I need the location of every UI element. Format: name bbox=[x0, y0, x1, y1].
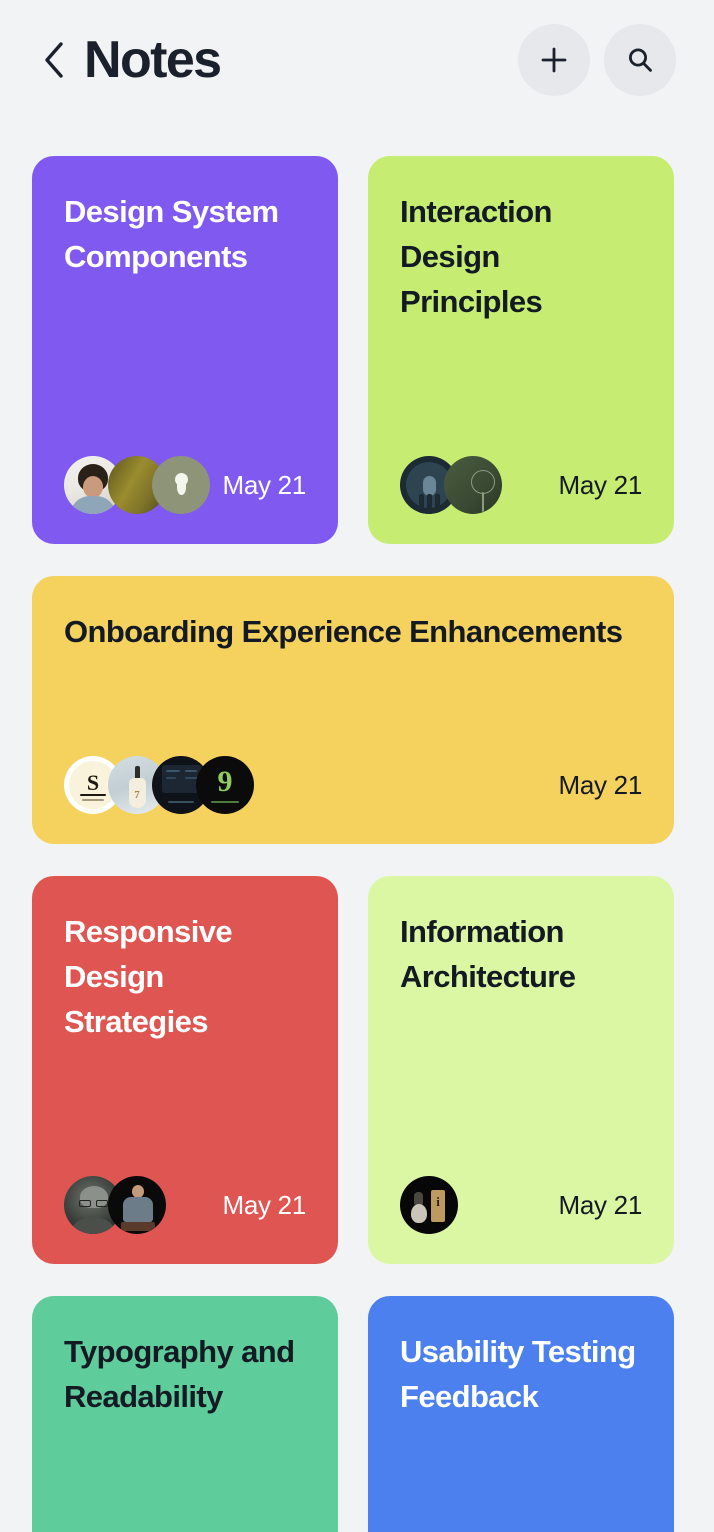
avatar-stack[interactable] bbox=[400, 456, 502, 514]
avatar[interactable] bbox=[108, 1176, 166, 1234]
app-header: Notes bbox=[0, 0, 714, 120]
note-title: Information Architecture bbox=[400, 910, 642, 1000]
page-title: Notes bbox=[84, 34, 518, 86]
note-date: May 21 bbox=[547, 770, 642, 801]
note-date: May 21 bbox=[211, 1190, 306, 1221]
note-card-usability-testing-feedback[interactable]: Usability Testing Feedback bbox=[368, 1296, 674, 1532]
chevron-left-icon bbox=[42, 41, 66, 79]
avatar[interactable] bbox=[152, 456, 210, 514]
note-card-design-system-components[interactable]: Design System Components May 21 bbox=[32, 156, 338, 544]
avatar-stack[interactable]: i bbox=[400, 1176, 458, 1234]
note-card-onboarding-experience-enhancements[interactable]: Onboarding Experience Enhancements S 7 bbox=[32, 576, 674, 844]
notes-grid: Design System Components May 21 bbox=[0, 120, 714, 1532]
note-title: Interaction Design Principles bbox=[400, 190, 642, 325]
avatar[interactable] bbox=[444, 456, 502, 514]
note-title: Typography and Readability bbox=[64, 1330, 306, 1420]
note-card-typography-and-readability[interactable]: Typography and Readability bbox=[32, 1296, 338, 1532]
avatar[interactable]: 9 bbox=[196, 756, 254, 814]
note-date: May 21 bbox=[547, 1190, 642, 1221]
note-card-information-architecture[interactable]: Information Architecture i May 21 bbox=[368, 876, 674, 1264]
note-card-interaction-design-principles[interactable]: Interaction Design Principles Ma bbox=[368, 156, 674, 544]
note-title: Usability Testing Feedback bbox=[400, 1330, 642, 1420]
note-footer: May 21 bbox=[400, 456, 642, 514]
note-footer: May 21 bbox=[64, 1176, 306, 1234]
avatar-stack[interactable] bbox=[64, 456, 210, 514]
note-footer: S 7 bbox=[64, 756, 642, 814]
notes-app: Notes Design S bbox=[0, 0, 714, 1532]
note-card-responsive-design-strategies[interactable]: Responsive Design Strategies May bbox=[32, 876, 338, 1264]
header-actions bbox=[518, 24, 676, 96]
search-button[interactable] bbox=[604, 24, 676, 96]
note-footer: May 21 bbox=[64, 456, 306, 514]
avatar[interactable]: i bbox=[400, 1176, 458, 1234]
avatar-stack[interactable] bbox=[64, 1176, 166, 1234]
note-date: May 21 bbox=[547, 470, 642, 501]
avatar-stack[interactable]: S 7 bbox=[64, 756, 254, 814]
note-date: May 21 bbox=[211, 470, 306, 501]
note-title: Responsive Design Strategies bbox=[64, 910, 306, 1045]
plus-icon bbox=[539, 45, 569, 75]
search-icon bbox=[625, 45, 655, 75]
note-title: Design System Components bbox=[64, 190, 306, 280]
note-footer: i May 21 bbox=[400, 1176, 642, 1234]
add-note-button[interactable] bbox=[518, 24, 590, 96]
note-title: Onboarding Experience Enhancements bbox=[64, 610, 642, 655]
back-button[interactable] bbox=[32, 38, 76, 82]
